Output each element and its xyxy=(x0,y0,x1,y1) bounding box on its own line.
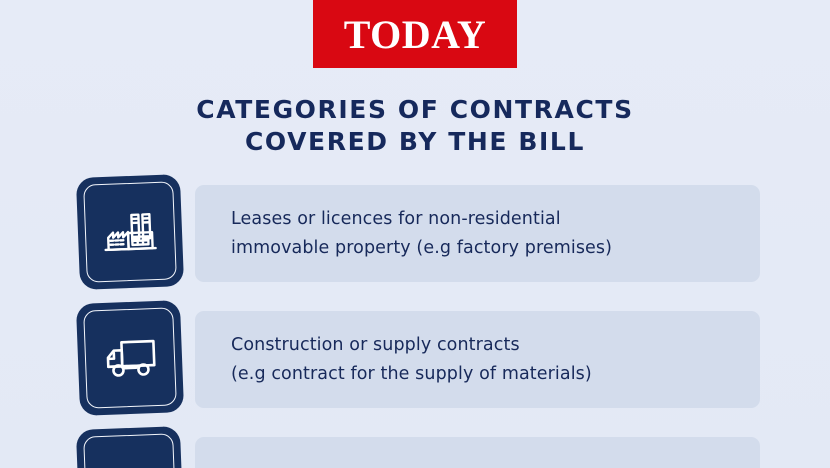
list-item: Leases or licences for non-residential i… xyxy=(0,176,830,290)
page-title-line-1: CATEGORIES OF CONTRACTS xyxy=(0,94,830,126)
list-item: Construction or supply contracts (e.g co… xyxy=(0,302,830,416)
category-card: Event contracts involving the provision … xyxy=(195,437,760,468)
icon-tile-event xyxy=(76,426,184,468)
factory-icon xyxy=(76,174,184,290)
category-text: Leases or licences for non-residential i… xyxy=(195,205,612,263)
page-title-line-2: COVERED BY THE BILL xyxy=(0,126,830,158)
list-item: Event contracts involving the provision … xyxy=(0,428,830,468)
delivery-truck-icon xyxy=(76,300,184,416)
category-list: Leases or licences for non-residential i… xyxy=(0,176,830,468)
today-masthead-logo: TODAY xyxy=(313,0,517,68)
icon-tile-factory xyxy=(76,174,184,290)
icon-tile-truck xyxy=(76,300,184,416)
category-card: Construction or supply contracts (e.g co… xyxy=(195,311,760,408)
masthead-wordmark: TODAY xyxy=(344,15,487,55)
infographic-page: TODAY CATEGORIES OF CONTRACTS COVERED BY… xyxy=(0,0,830,468)
category-card: Leases or licences for non-residential i… xyxy=(195,185,760,282)
page-title: CATEGORIES OF CONTRACTS COVERED BY THE B… xyxy=(0,94,830,158)
event-goods-icon xyxy=(76,426,184,468)
category-text: Construction or supply contracts (e.g co… xyxy=(195,331,592,389)
